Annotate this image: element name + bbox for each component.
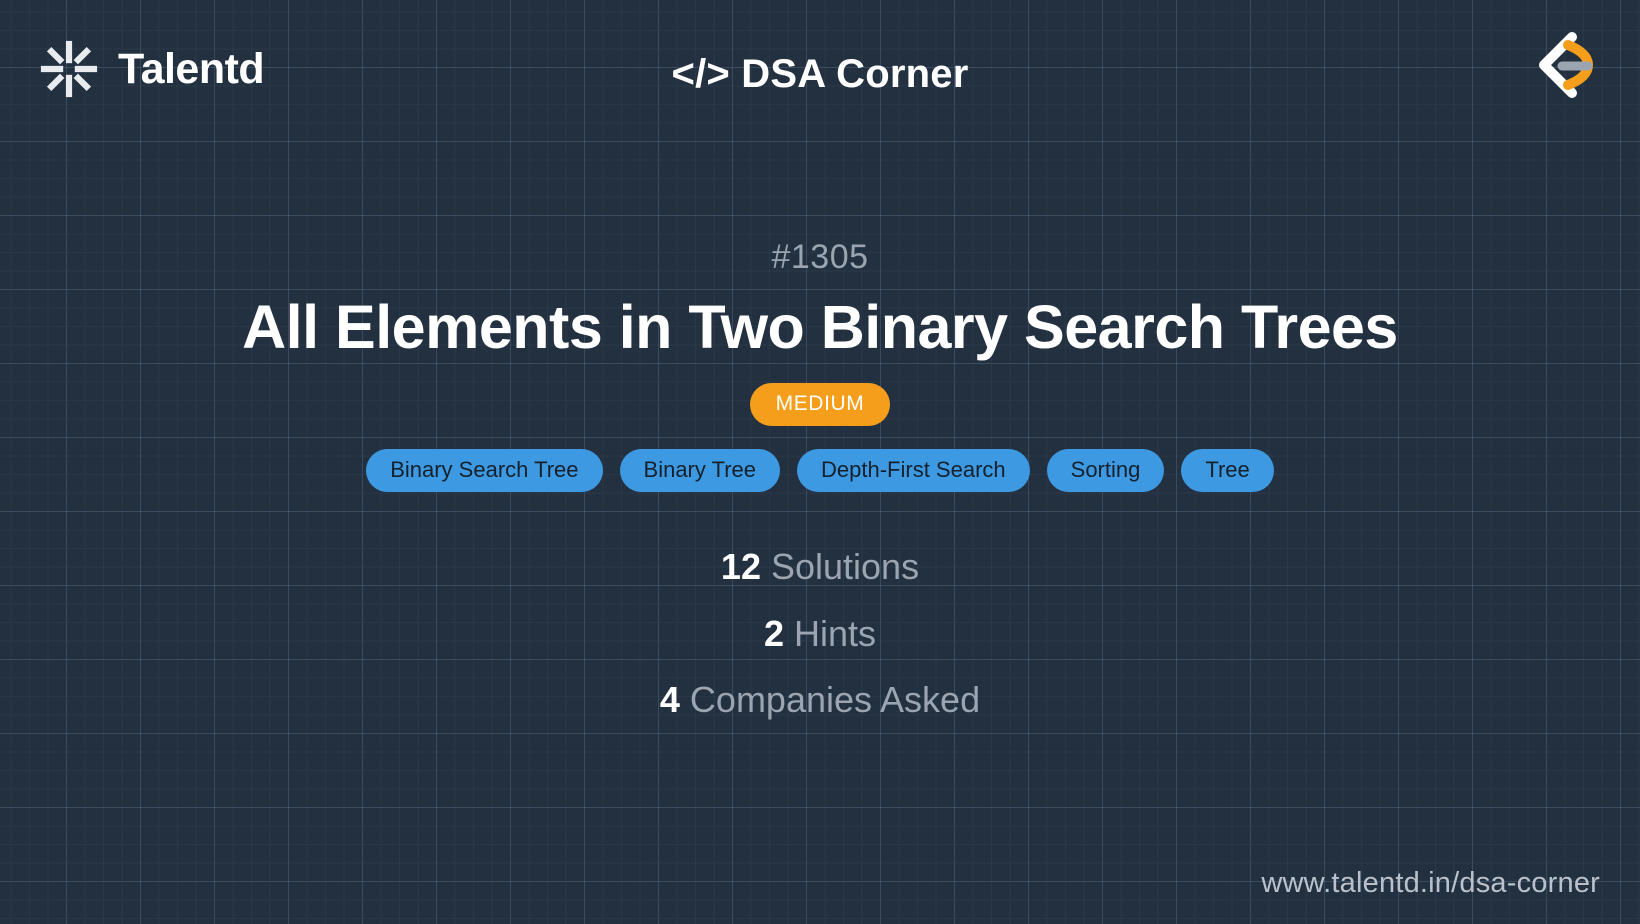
tag-pill[interactable]: Depth-First Search <box>797 449 1030 492</box>
problem-title: All Elements in Two Binary Search Trees <box>0 295 1640 361</box>
problem-number: #1305 <box>0 238 1640 277</box>
main-content: #1305 All Elements in Two Binary Search … <box>0 156 1640 734</box>
stats-list: 12 Solutions2 Hints4 Companies Asked <box>0 534 1640 734</box>
leetcode-logo-icon <box>1518 25 1598 117</box>
stat-row: 2 Hints <box>0 601 1640 668</box>
tags-row: Binary Search TreeBinary TreeDepth-First… <box>0 449 1640 492</box>
stat-row: 12 Solutions <box>0 534 1640 601</box>
tag-pill[interactable]: Sorting <box>1047 449 1165 492</box>
tag-pill[interactable]: Binary Tree <box>620 449 781 492</box>
tag-pill[interactable]: Binary Search Tree <box>366 449 602 492</box>
stat-label: Hints <box>784 613 876 654</box>
stat-label: Solutions <box>761 546 919 587</box>
footer-url: www.talentd.in/dsa-corner <box>1261 867 1600 900</box>
tag-pill[interactable]: Tree <box>1181 449 1273 492</box>
stat-label: Companies Asked <box>680 679 980 720</box>
difficulty-badge: MEDIUM <box>750 383 891 426</box>
page-title: </> DSA Corner <box>0 52 1640 97</box>
stat-value: 2 <box>764 613 784 654</box>
header: Talentd </> DSA Corner <box>0 0 1640 156</box>
stat-row: 4 Companies Asked <box>0 667 1640 734</box>
stat-value: 4 <box>660 679 680 720</box>
dsa-problem-card: Talentd </> DSA Corner #1305 All Element… <box>0 0 1640 924</box>
difficulty-row: MEDIUM <box>0 383 1640 426</box>
stat-value: 12 <box>721 546 761 587</box>
